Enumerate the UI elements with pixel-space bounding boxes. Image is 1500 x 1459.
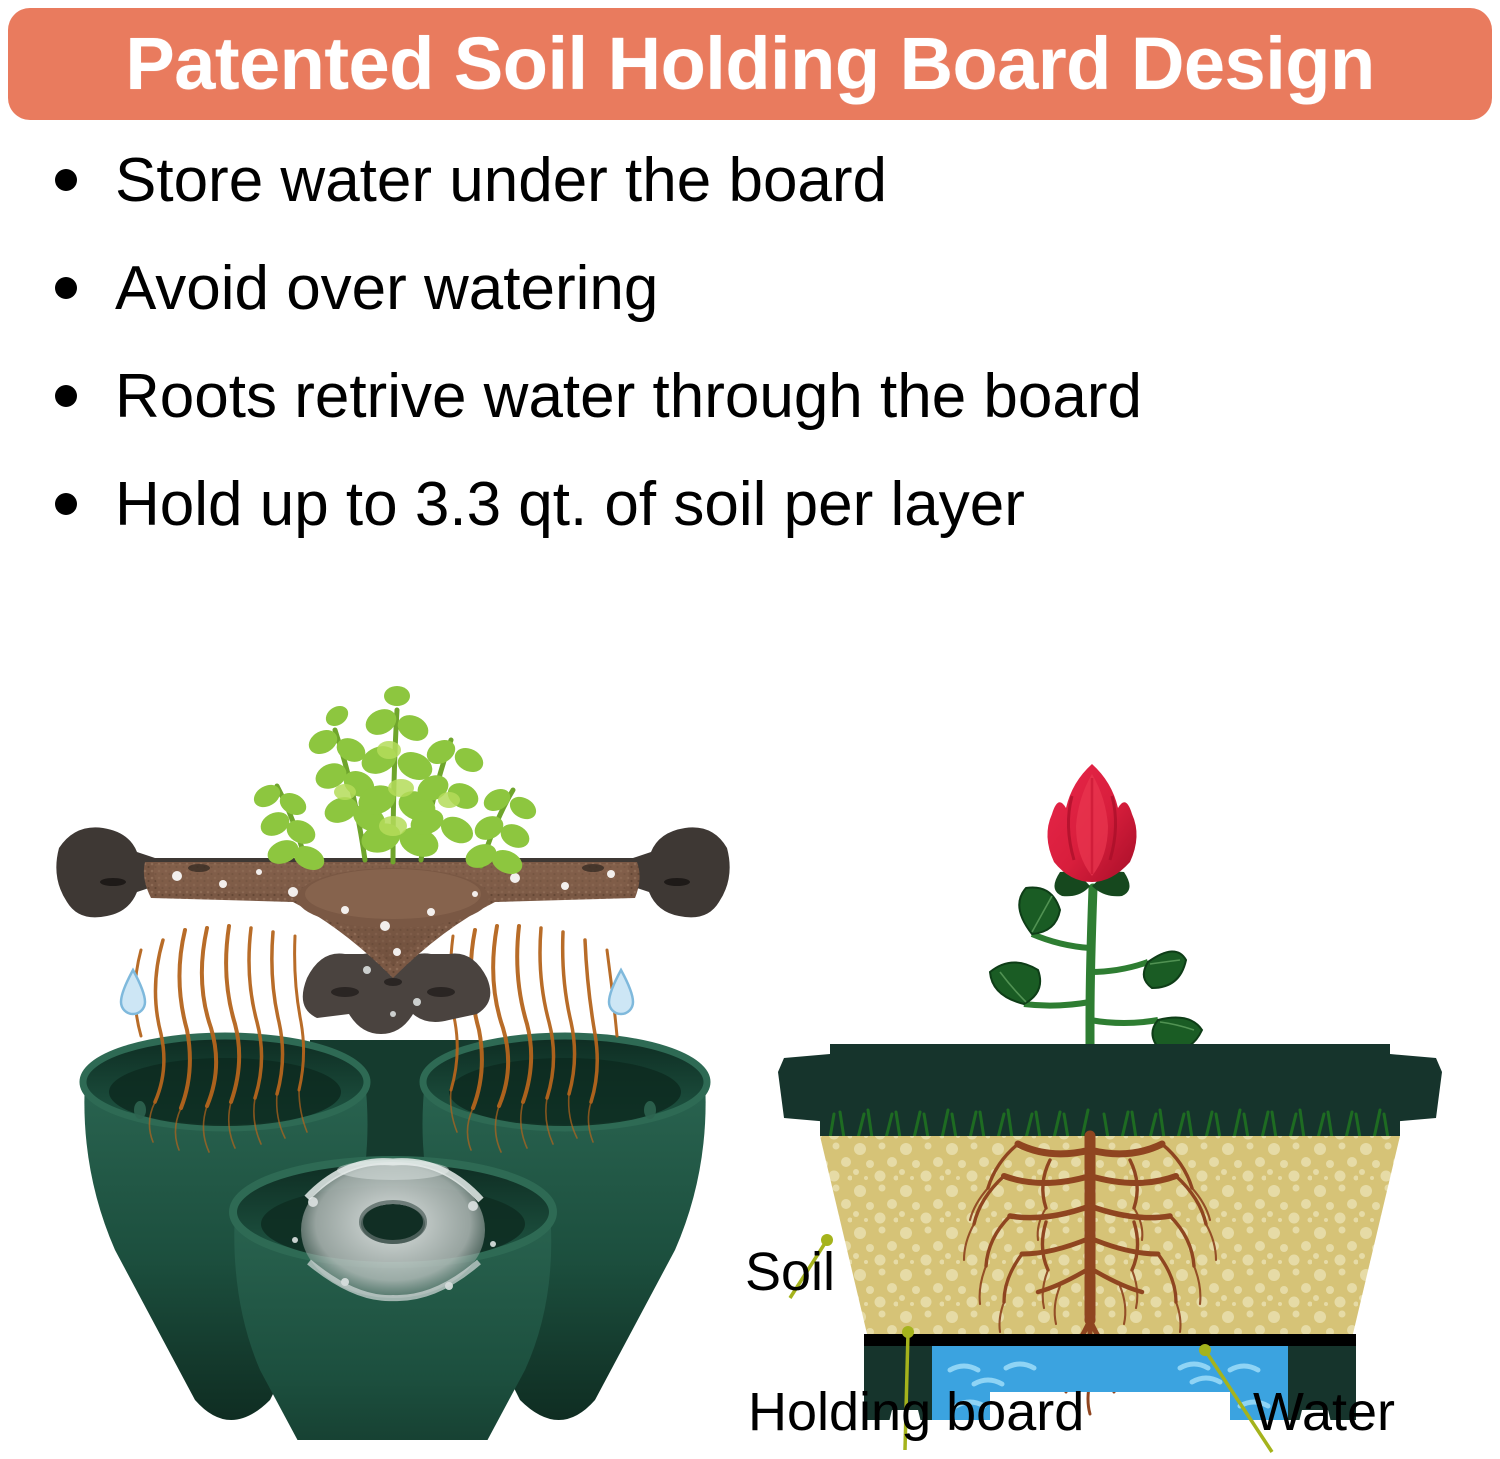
feature-text: Avoid over watering	[115, 258, 658, 320]
header-banner: Patented Soil Holding Board Design	[8, 8, 1492, 120]
list-item: Hold up to 3.3 qt. of soil per layer	[55, 474, 1455, 582]
water-droplet-icon	[609, 970, 633, 1014]
holding-board-layer	[864, 1334, 1356, 1346]
feature-text: Store water under the board	[115, 150, 887, 212]
bullet-dot-icon	[55, 277, 77, 299]
list-item: Avoid over watering	[55, 258, 1455, 366]
label-water: Water	[1253, 1385, 1395, 1439]
pot-cross-section-diagram	[760, 720, 1460, 1280]
rose-plant	[990, 764, 1202, 1072]
label-holding-board: Holding board	[748, 1385, 1084, 1439]
water-droplet-icon	[121, 970, 145, 1014]
feature-text: Hold up to 3.3 qt. of soil per layer	[115, 474, 1025, 536]
bullet-dot-icon	[55, 385, 77, 407]
list-item: Roots retrive water through the board	[55, 366, 1455, 474]
label-soil: Soil	[745, 1245, 835, 1299]
figures-area	[0, 590, 1500, 1459]
planter-illustration	[45, 610, 745, 1440]
list-item: Store water under the board	[55, 150, 1455, 258]
rose-bloom	[1047, 764, 1136, 882]
page-title: Patented Soil Holding Board Design	[125, 27, 1374, 101]
cross-section-illustration	[760, 720, 1460, 1420]
pot-rim	[778, 1044, 1442, 1122]
bullet-dot-icon	[55, 169, 77, 191]
stackable-planter-photo	[45, 610, 745, 1440]
bullet-dot-icon	[55, 493, 77, 515]
plant-foliage	[250, 686, 540, 879]
feature-list: Store water under the board Avoid over w…	[55, 150, 1455, 582]
feature-text: Roots retrive water through the board	[115, 366, 1142, 428]
soil-layer	[820, 1136, 1400, 1338]
grass-layer	[820, 1110, 1400, 1138]
